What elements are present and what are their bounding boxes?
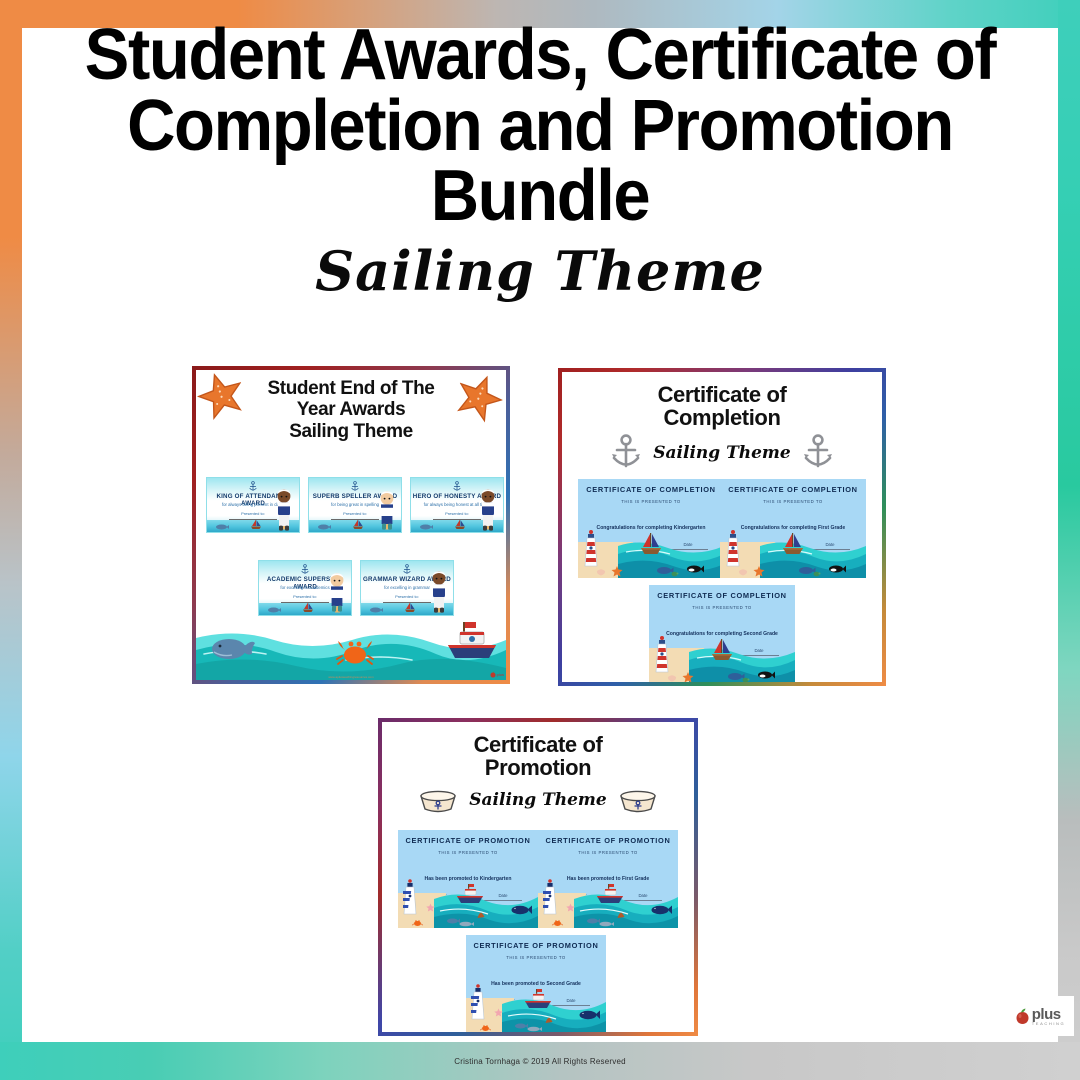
completion-certificate: CERTIFICATE OF COMPLETION THIS IS PRESEN… [720,479,866,578]
preview-completion-script-row: Sailing Theme [562,434,882,472]
certificate-heading: CERTIFICATE OF COMPLETION [649,591,795,600]
certificate-message: Congratulations for completing First Gra… [720,525,866,531]
tugboat-icon [456,884,484,906]
crab-icon [336,636,374,666]
orca-icon [828,563,846,574]
lighthouse-icon [543,878,557,920]
whale-icon [419,523,433,530]
preview-awards-title-line2: Year Awards [236,399,466,420]
anchor-icon [351,481,360,492]
certificate-message: Has been promoted to First Grade [538,876,678,882]
brand-text: plus TEACHING [1032,1007,1065,1026]
turtle-icon [741,676,750,682]
crab-icon [412,918,423,927]
starfish-icon [682,671,694,682]
tugboat-icon [524,989,552,1011]
sailboat-icon [780,532,806,558]
whale-icon [369,606,383,613]
tugboat-icon [596,884,624,906]
sailboat-icon [404,602,416,613]
sailboat-icon [352,519,364,530]
preview-promotion-title-line2: Promotion [402,756,674,779]
anchor-icon [453,481,462,492]
preview-promotion-script-row: Sailing Theme [382,786,694,814]
promotion-certificate: CERTIFICATE OF PROMOTION THIS IS PRESENT… [538,830,678,928]
crab-icon [480,1023,491,1032]
anchor-icon [301,564,310,575]
thumb-watermark-label: plus [497,672,504,677]
promotion-certificate: CERTIFICATE OF PROMOTION THIS IS PRESENT… [398,830,538,928]
certificate-heading: CERTIFICATE OF PROMOTION [538,836,678,845]
preview-student-awards-page: Student End of The Year Awards Sailing T… [196,370,506,680]
certificate-heading: CERTIFICATE OF PROMOTION [398,836,538,845]
promotion-certificate: CERTIFICATE OF PROMOTION THIS IS PRESENT… [466,935,606,1032]
starfish-icon [566,903,575,912]
certificate-presented-label: THIS IS PRESENTED TO [720,499,866,504]
poster-headline-block: Student Awards, Certificate of Completio… [22,20,1058,298]
anchor-icon [801,434,835,472]
completion-certificate: CERTIFICATE OF COMPLETION THIS IS PRESEN… [649,585,795,682]
brand-logo: plus TEACHING [1006,996,1074,1036]
orca-icon [757,669,775,680]
whale-icon [650,903,672,916]
poster-canvas: Student Awards, Certificate of Completio… [0,0,1080,1080]
sailor-hat-icon [417,786,459,814]
fish-icon [598,920,614,927]
starfish-icon [611,565,623,577]
preview-completion-title: Certificate of Completion [562,372,882,429]
preview-student-awards[interactable]: Student End of The Year Awards Sailing T… [192,366,510,684]
certificate-presented-label: THIS IS PRESENTED TO [398,850,538,855]
whale-icon [578,1008,600,1021]
preview-promotion-subtitle: Sailing Theme [469,790,606,810]
preview-certificate-of-completion[interactable]: Certificate of Completion Sailing Theme … [558,368,886,686]
apple-icon [1015,1008,1030,1025]
anchor-icon [249,481,258,492]
certificate-message: Congratulations for completing Second Gr… [649,631,795,637]
lighthouse-icon [655,634,669,678]
certificate-message: Congratulations for completing Kindergar… [578,525,724,531]
thumb-watermark: plus [490,671,504,678]
tugboat-icon [446,620,498,664]
turtle-icon [670,570,679,577]
preview-completion-page: Certificate of Completion Sailing Theme … [562,372,882,682]
starfish-icon [753,565,765,577]
frame-border-right [1058,0,1080,1080]
anchor-icon [403,564,412,575]
whale-icon [210,634,256,664]
preview-promotion-title: Certificate of Promotion [382,722,694,779]
sailboat-icon [302,602,314,613]
whale-icon [317,523,331,530]
preview-completion-title-line1: Certificate of [582,383,862,406]
fish-icon [526,1025,542,1032]
certificate-presented-label: THIS IS PRESENTED TO [578,499,724,504]
certificate-presented-label: THIS IS PRESENTED TO [538,850,678,855]
lighthouse-icon [471,983,485,1025]
sailboat-icon [709,638,735,664]
brand-tagline: TEACHING [1032,1022,1065,1026]
sailor-kid-icon [478,488,498,532]
anchor-icon [609,434,643,472]
headline-line-2: Completion and Promotion [58,91,1021,162]
preview-certificate-of-promotion[interactable]: Certificate of Promotion Sailing Theme C… [378,718,698,1036]
shark-fin-icon [544,1012,554,1024]
whale-icon [215,523,229,530]
certificate-heading: CERTIFICATE OF COMPLETION [578,485,724,494]
lighthouse-icon [403,878,417,920]
headline-subtitle: Sailing Theme [22,244,1058,298]
preview-awards-title: Student End of The Year Awards Sailing T… [196,370,506,442]
starfish-icon [494,1008,503,1017]
sailor-kid-icon [377,490,397,532]
orca-icon [686,563,704,574]
lighthouse-icon [584,528,598,572]
whale-icon [510,903,532,916]
sailboat-icon [250,519,262,530]
turtle-icon [812,570,821,577]
certificate-presented-label: THIS IS PRESENTED TO [649,605,795,610]
fish-icon [458,920,474,927]
certificate-message: Has been promoted to Kindergarten [398,876,538,882]
shark-fin-icon [616,907,626,919]
sailboat-icon [638,532,664,558]
preview-completion-title-line2: Completion [582,406,862,429]
starfish-icon [426,903,435,912]
apple-icon [490,671,496,678]
sailor-kid-icon [327,572,347,615]
whale-icon [267,606,281,613]
certificate-message: Has been promoted to Second Grade [466,981,606,987]
preview-awards-title-line1: Student End of The [236,378,466,399]
crab-icon [552,918,563,927]
certificate-heading: CERTIFICATE OF COMPLETION [720,485,866,494]
certificate-presented-label: THIS IS PRESENTED TO [466,955,606,960]
sailor-kid-icon [274,488,294,532]
certificate-heading: CERTIFICATE OF PROMOTION [466,941,606,950]
preview-completion-subtitle: Sailing Theme [653,443,790,463]
sailor-hat-icon [617,786,659,814]
preview-awards-footer: www.aplusteachingresources.com [196,675,506,679]
seashell-icon [667,674,677,682]
seashell-icon [738,568,748,576]
sailboat-icon [454,519,466,530]
shark-fin-icon [476,907,486,919]
sailor-kid-icon [429,570,449,615]
lighthouse-icon [726,528,740,572]
frame-border-left [0,0,22,1080]
completion-certificate: CERTIFICATE OF COMPLETION THIS IS PRESEN… [578,479,724,578]
headline-line-1: Student Awards, Certificate of [58,20,1021,91]
preview-promotion-page: Certificate of Promotion Sailing Theme C… [382,722,694,1032]
seashell-icon [596,568,606,576]
preview-promotion-title-line1: Certificate of [402,733,674,756]
preview-awards-title-line3: Sailing Theme [236,421,466,442]
copyright-credit: Cristina Tornhaga © 2019 All Rights Rese… [0,1042,1080,1080]
brand-name: plus [1032,1007,1065,1022]
headline-line-3: Bundle [58,161,1021,232]
